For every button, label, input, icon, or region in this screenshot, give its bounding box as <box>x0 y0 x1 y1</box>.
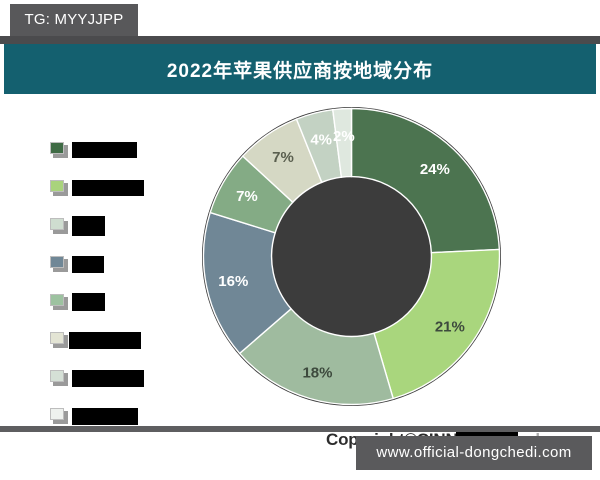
tg-badge: TG: MYYJJPP <box>10 4 138 36</box>
legend-item-label <box>72 370 144 387</box>
legend-swatch-color <box>50 332 64 344</box>
card-top-strip <box>0 36 600 44</box>
slice-value-label: 24% <box>420 161 450 178</box>
legend-swatch <box>50 256 68 272</box>
legend-item[interactable] <box>50 256 190 272</box>
chart-legend <box>50 142 190 424</box>
legend-swatch <box>50 294 68 310</box>
slice-value-label: 16% <box>218 273 248 290</box>
legend-item-label <box>72 142 137 158</box>
legend-item[interactable] <box>50 408 190 424</box>
legend-item[interactable] <box>50 370 190 386</box>
donut-chart: 24%21%18%16%7%7%4%2% <box>199 104 504 409</box>
legend-swatch <box>50 332 68 348</box>
plot-area: 24%21%18%16%7%7%4%2% Copyright©CINNORese… <box>4 94 596 416</box>
legend-item[interactable] <box>50 180 190 196</box>
legend-item-label <box>72 180 144 196</box>
source-url-bar: www.official-dongchedi.com <box>356 436 592 470</box>
bottom-rule <box>0 426 600 432</box>
chart-title-bar: 2022年苹果供应商按地域分布 <box>4 44 596 94</box>
chart-card: 2022年苹果供应商按地域分布 24%21%18%16%7%7%4%2% Cop… <box>0 36 600 420</box>
slice-value-label: 7% <box>236 188 258 205</box>
legend-swatch-color <box>50 256 64 268</box>
legend-item-label <box>72 216 105 236</box>
legend-swatch-color <box>50 142 64 154</box>
legend-swatch-color <box>50 408 64 420</box>
legend-item[interactable] <box>50 218 190 234</box>
donut-svg: 24%21%18%16%7%7%4%2% <box>199 104 504 409</box>
legend-item-label <box>72 256 104 273</box>
legend-swatch <box>50 408 68 424</box>
legend-swatch <box>50 180 68 196</box>
legend-swatch-color <box>50 180 64 192</box>
legend-swatch <box>50 142 68 158</box>
slice-value-label: 4% <box>310 132 332 149</box>
legend-item-label <box>69 332 141 349</box>
legend-swatch <box>50 370 68 386</box>
legend-swatch <box>50 218 68 234</box>
slice-value-label: 18% <box>302 364 332 381</box>
legend-item[interactable] <box>50 294 190 310</box>
slice-value-label: 7% <box>272 149 294 166</box>
page-title: 2022年苹果供应商按地域分布 <box>167 56 433 83</box>
legend-swatch-color <box>50 370 64 382</box>
legend-item-label <box>72 293 105 311</box>
legend-item-label <box>72 408 138 425</box>
slice-value-label: 21% <box>435 319 465 336</box>
screenshot-root: TG: MYYJJPP 2022年苹果供应商按地域分布 24%21%18%16%… <box>0 0 600 480</box>
legend-item[interactable] <box>50 332 190 348</box>
legend-swatch-color <box>50 294 64 306</box>
slice-value-label: 2% <box>333 128 355 145</box>
legend-swatch-color <box>50 218 64 230</box>
legend-item[interactable] <box>50 142 190 158</box>
